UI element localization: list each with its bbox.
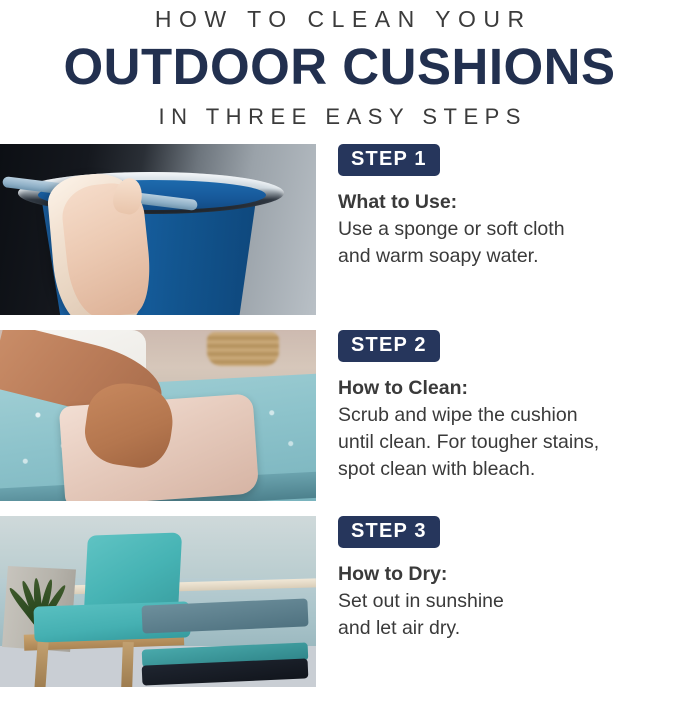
step-heading: How to Clean: [338, 375, 679, 401]
wicker-basket [207, 332, 279, 366]
infographic-page: HOW TO CLEAN YOUR OUTDOOR CUSHIONS IN TH… [0, 0, 679, 699]
status-badge: STEP 2 [338, 330, 440, 362]
step-body-line: spot clean with bleach. [338, 456, 679, 483]
step-body-line: and let air dry. [338, 615, 679, 642]
step-body-line: Use a sponge or soft cloth [338, 216, 679, 243]
step-row: STEP 1 What to Use: Use a sponge or soft… [0, 144, 679, 330]
step-row: STEP 2 How to Clean: Scrub and wipe the … [0, 330, 679, 516]
stacked-cushions [142, 602, 308, 684]
status-badge: STEP 1 [338, 144, 440, 176]
header: HOW TO CLEAN YOUR OUTDOOR CUSHIONS IN TH… [0, 0, 679, 132]
header-subkicker: IN THREE EASY STEPS [0, 102, 679, 132]
step-body: Use a sponge or soft cloth and warm soap… [338, 216, 679, 270]
chaise-lounge-poolside-photo [0, 516, 316, 687]
status-badge: STEP 3 [338, 516, 440, 548]
blue-bucket-with-cloth-photo [0, 144, 316, 315]
step-body-line: Scrub and wipe the cushion [338, 402, 679, 429]
step-body: Scrub and wipe the cushion until clean. … [338, 402, 679, 483]
step-body: Set out in sunshine and let air dry. [338, 588, 679, 642]
step-copy: STEP 1 What to Use: Use a sponge or soft… [338, 144, 679, 270]
header-kicker: HOW TO CLEAN YOUR [0, 4, 679, 34]
step-body-line: until clean. For tougher stains, [338, 429, 679, 456]
steps-list: STEP 1 What to Use: Use a sponge or soft… [0, 144, 679, 702]
page-title: OUTDOOR CUSHIONS [0, 38, 679, 96]
chaise-leg [121, 642, 134, 687]
step-row: STEP 3 How to Dry: Set out in sunshine a… [0, 516, 679, 702]
step-body-line: and warm soapy water. [338, 243, 679, 270]
step-body-line: Set out in sunshine [338, 588, 679, 615]
step-copy: STEP 2 How to Clean: Scrub and wipe the … [338, 330, 679, 483]
wiping-teal-cushion-photo [0, 330, 316, 501]
step-heading: How to Dry: [338, 561, 679, 587]
step-copy: STEP 3 How to Dry: Set out in sunshine a… [338, 516, 679, 642]
step-heading: What to Use: [338, 189, 679, 215]
